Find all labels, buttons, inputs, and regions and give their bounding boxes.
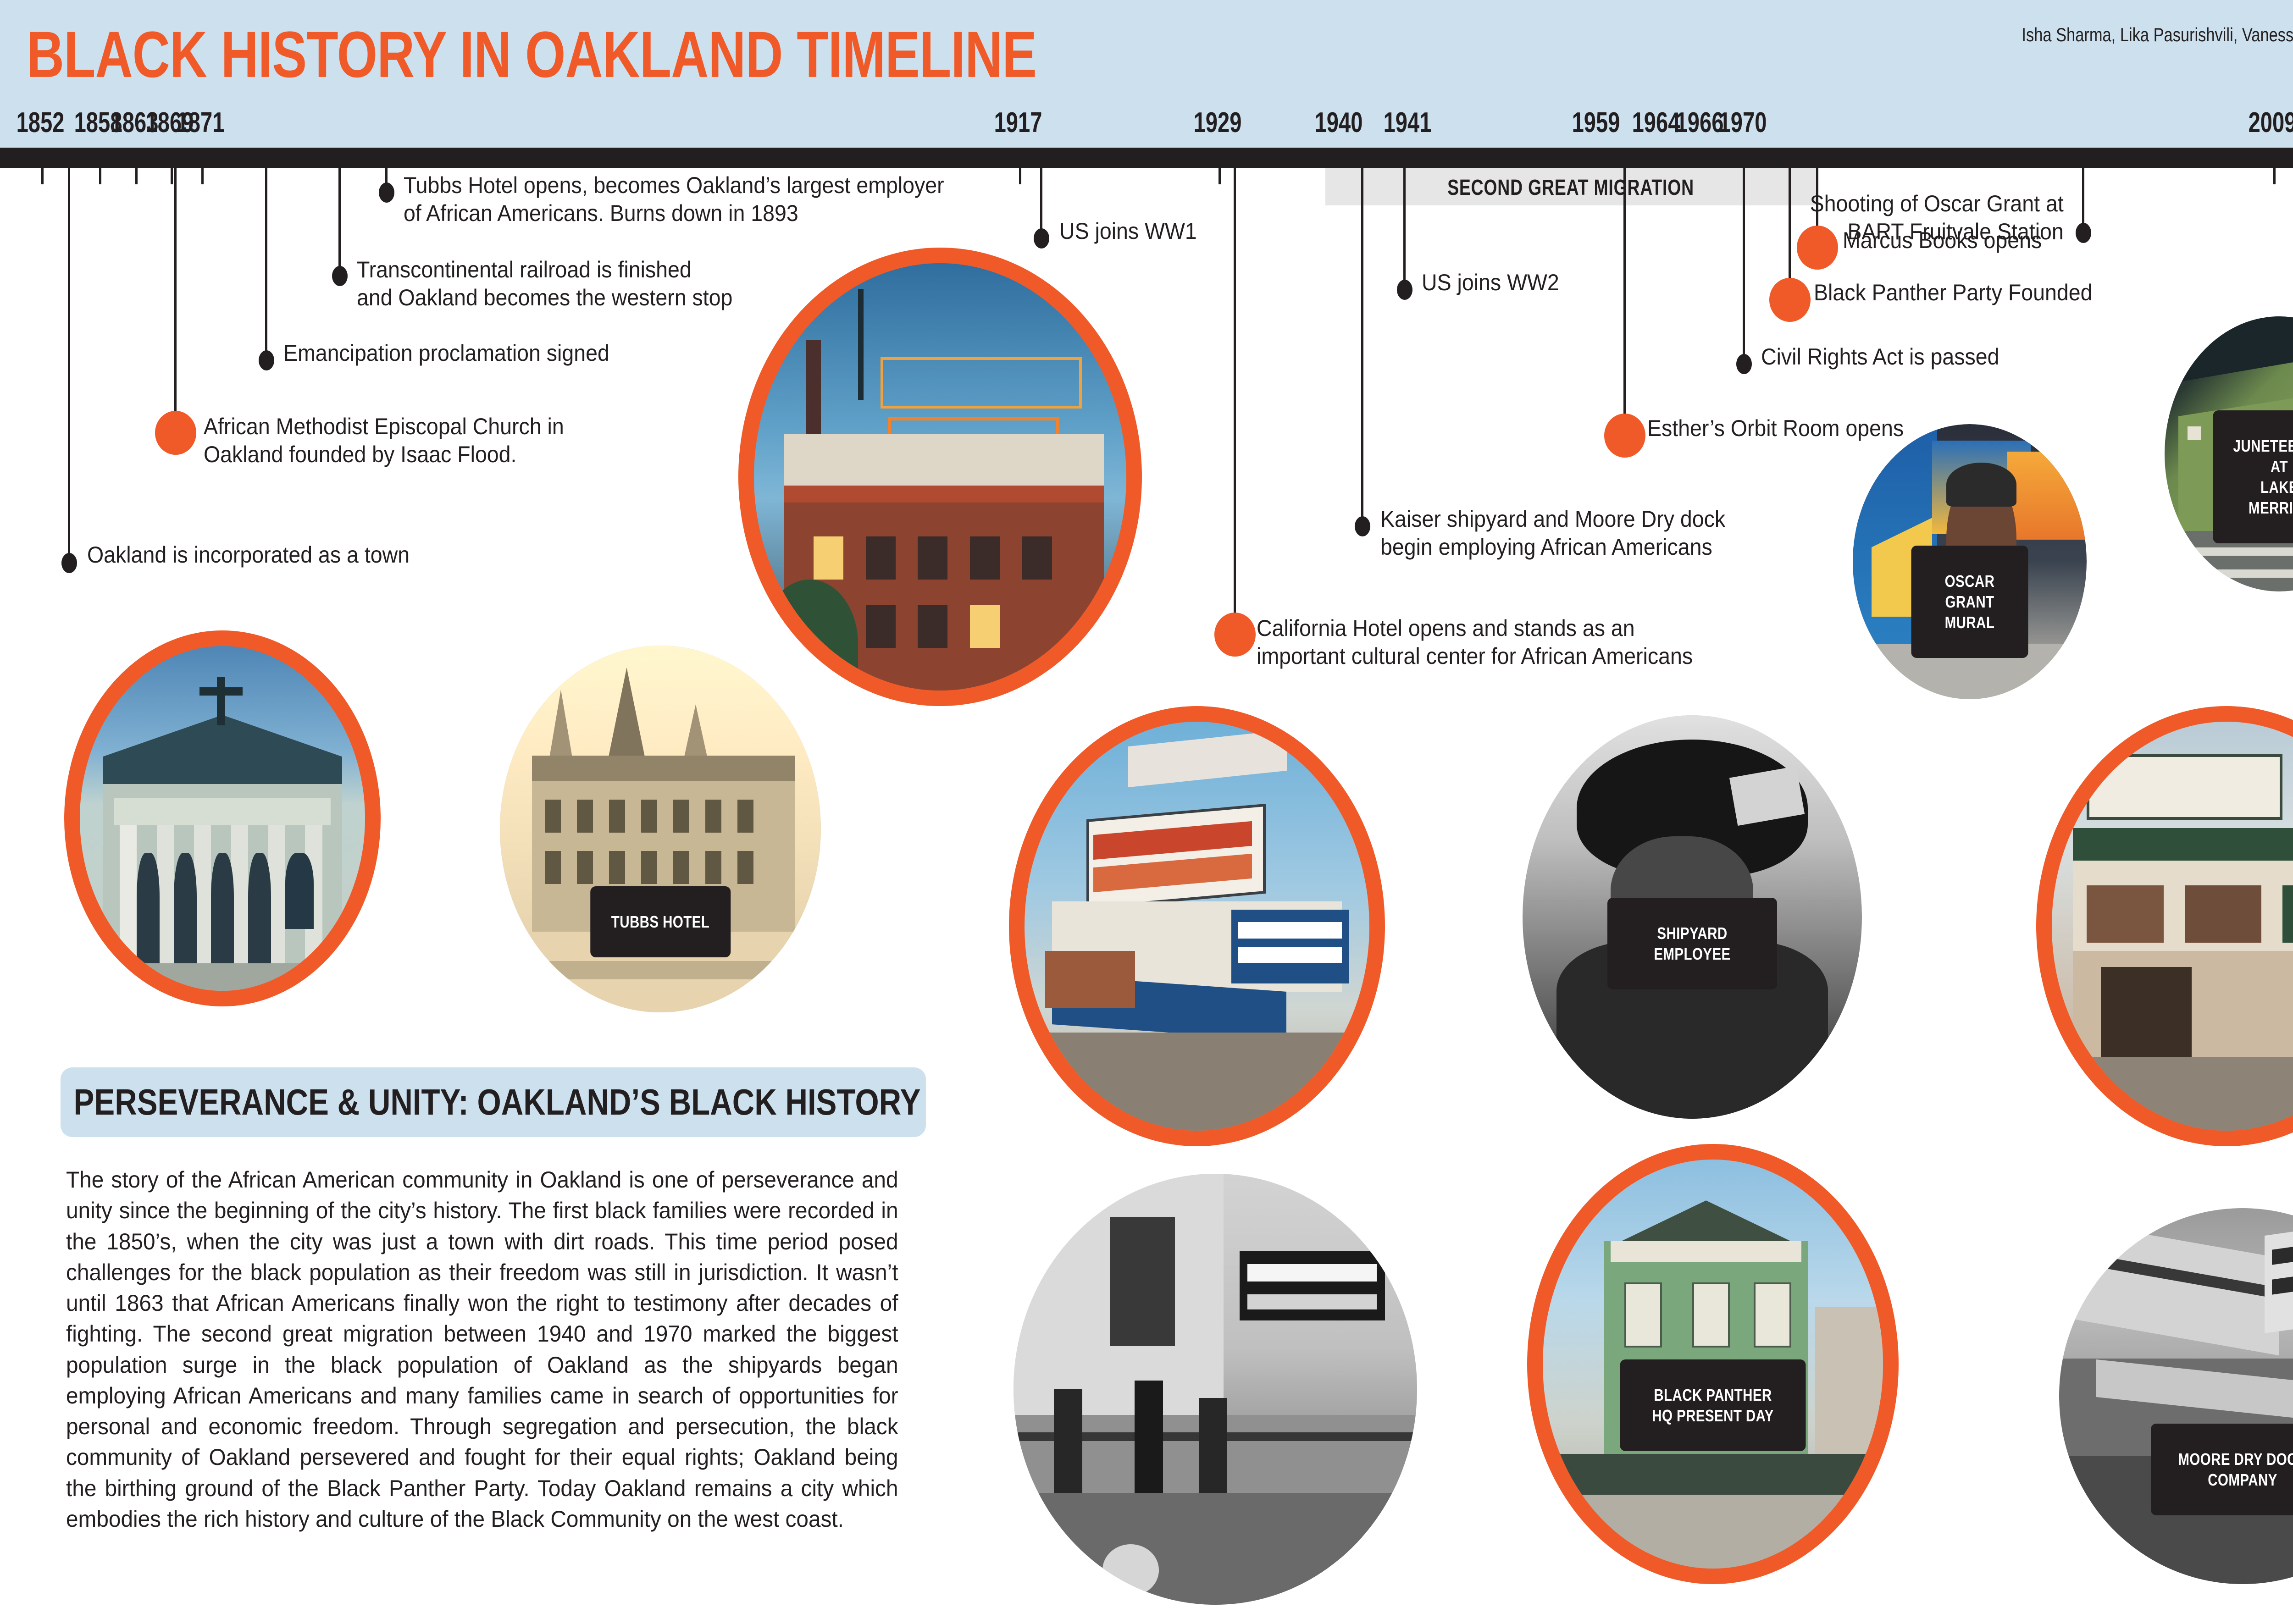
photo-black-panther-hq-historic[interactable] <box>1014 1174 1417 1605</box>
moore-dry-dock-image <box>2059 1208 2293 1584</box>
summary-title: PERSEVERANCE & UNITY: OAKLAND’S BLACK HI… <box>61 1081 920 1123</box>
timeline-year-1917: 1917 <box>987 106 1050 139</box>
event-label-us-joins-ww2: US joins WW2 <box>1422 269 1559 297</box>
event-label-us-joins-ww1: US joins WW1 <box>1059 217 1197 245</box>
timeline-year-1959: 1959 <box>1565 106 1628 139</box>
photo-marcus-books[interactable] <box>2036 706 2293 1146</box>
highlight-marker-dot-black-panther-party-founded[interactable] <box>1782 290 1798 310</box>
photo-oscar-grant-mural[interactable]: OSCAR GRANT MURAL <box>1853 424 2087 699</box>
summary-body: The story of the African American commun… <box>66 1165 898 1535</box>
event-label-ame-church-founded: African Methodist Episcopal Church in Oa… <box>204 413 564 469</box>
marker-dot-tubbs-hotel-opens[interactable] <box>379 182 394 203</box>
marker-dot-transcontinental-railroad[interactable] <box>332 266 348 286</box>
photo-california-hotel[interactable] <box>738 248 1142 706</box>
leader-line-us-joins-ww1 <box>1040 168 1042 238</box>
tubbs-hotel-image <box>500 646 821 1012</box>
marker-dot-us-joins-ww1[interactable] <box>1034 228 1049 249</box>
photo-caption-shipyard-employee: SHIPYARD EMPLOYEE <box>1607 898 1777 989</box>
timeline-year-1871: 1871 <box>169 106 232 139</box>
leader-line-ame-church-founded <box>174 168 177 433</box>
page-title: BLACK HISTORY IN OAKLAND TIMELINE <box>27 22 1036 88</box>
event-label-kaiser-shipyard-moore-dry-dock: Kaiser shipyard and Moore Dry dock begin… <box>1380 505 1725 561</box>
timeline-tick-1917 <box>1019 168 1021 184</box>
photo-caption-oscar-grant-mural: OSCAR GRANT MURAL <box>1911 546 2028 658</box>
photo-caption-juneteenth-lake-merritt: JUNETEENTH AT LAKE MERRITT <box>2213 410 2293 543</box>
timeline-year-1940: 1940 <box>1307 106 1370 139</box>
timeline-year-1929: 1929 <box>1186 106 1249 139</box>
leader-line-kaiser-shipyard-moore-dry-dock <box>1361 168 1363 526</box>
second-great-migration-label: SECOND GREAT MIGRATION <box>1379 175 1762 200</box>
event-label-black-panther-party-founded: Black Panther Party Founded <box>1814 279 2092 307</box>
marker-dot-civil-rights-act[interactable] <box>1736 354 1752 374</box>
photo-tubbs-hotel[interactable]: TUBBS HOTEL <box>500 646 821 1012</box>
event-label-oakland-incorporated: Oakland is incorporated as a town <box>87 541 410 569</box>
marker-dot-kaiser-shipyard-moore-dry-dock[interactable] <box>1355 516 1370 536</box>
photo-black-panther-hq-present[interactable]: BLACK PANTHER HQ PRESENT DAY <box>1527 1144 1899 1584</box>
california-hotel-image <box>754 263 1126 690</box>
marker-dot-oscar-grant-shooting[interactable] <box>2076 223 2091 243</box>
first-ame-church-image <box>80 646 365 991</box>
timeline-tick-2009 <box>2273 168 2276 184</box>
event-label-civil-rights-act: Civil Rights Act is passed <box>1761 343 1999 371</box>
event-label-oscar-grant-shooting: Shooting of Oscar Grant at BART Fruitval… <box>1810 190 2064 246</box>
black-panther-hq-historic-image <box>1014 1174 1417 1605</box>
event-label-transcontinental-railroad: Transcontinental railroad is finished an… <box>357 256 732 312</box>
photo-esthers-orbit-room[interactable] <box>1009 706 1385 1146</box>
leader-line-transcontinental-railroad <box>338 168 341 276</box>
leader-line-california-hotel-opens <box>1234 168 1236 635</box>
timeline-bar <box>0 148 2293 168</box>
highlight-marker-dot-esthers-orbit-room-opens[interactable] <box>1617 425 1633 446</box>
leader-line-oakland-incorporated <box>68 168 70 563</box>
marker-dot-oakland-incorporated[interactable] <box>61 553 77 573</box>
summary-title-box: PERSEVERANCE & UNITY: OAKLAND’S BLACK HI… <box>61 1067 926 1137</box>
photo-moore-dry-dock[interactable]: MOORE DRY DOCK COMPANY <box>2059 1208 2293 1584</box>
timeline-tick-1852 <box>41 168 44 184</box>
timeline-tick-1871 <box>201 168 204 184</box>
credits-line: Isha Sharma, Lika Pasurishvili, Vanessa … <box>2022 24 2293 46</box>
timeline-tick-1869 <box>171 168 173 184</box>
timeline-year-1941: 1941 <box>1376 106 1439 139</box>
highlight-marker-dot-marcus-books-opens[interactable] <box>1810 238 1825 258</box>
photo-caption-black-panther-hq-present: BLACK PANTHER HQ PRESENT DAY <box>1620 1359 1806 1451</box>
photo-first-ame-church[interactable] <box>64 630 381 1006</box>
timeline-year-1852: 1852 <box>9 106 72 139</box>
photo-caption-moore-dry-dock: MOORE DRY DOCK COMPANY <box>2151 1424 2293 1515</box>
marker-dot-us-joins-ww2[interactable] <box>1397 280 1412 300</box>
poster-canvas: BLACK HISTORY IN OAKLAND TIMELINE Isha S… <box>0 0 2293 1624</box>
event-label-tubbs-hotel-opens: Tubbs Hotel opens, becomes Oakland’s lar… <box>404 171 944 227</box>
photo-shipyard-employee[interactable]: SHIPYARD EMPLOYEE <box>1523 715 1862 1119</box>
timeline-tick-1858 <box>99 168 101 184</box>
highlight-marker-dot-california-hotel-opens[interactable] <box>1227 624 1243 645</box>
leader-line-civil-rights-act <box>1743 168 1745 364</box>
timeline-tick-1929 <box>1219 168 1221 184</box>
marker-dot-emancipation-proclamation[interactable] <box>259 350 274 370</box>
photo-caption-tubbs-hotel: TUBBS HOTEL <box>590 886 731 957</box>
timeline-year-2009: 2009 <box>2241 106 2293 139</box>
event-label-california-hotel-opens: California Hotel opens and stands as an … <box>1257 614 1693 670</box>
leader-line-esthers-orbit-room-opens <box>1623 168 1626 436</box>
highlight-marker-dot-ame-church-founded[interactable] <box>168 423 183 443</box>
event-label-emancipation-proclamation: Emancipation proclamation signed <box>283 339 609 367</box>
timeline-tick-1863 <box>135 168 138 184</box>
esthers-orbit-room-image <box>1025 722 1369 1131</box>
leader-line-us-joins-ww2 <box>1403 168 1406 290</box>
photo-juneteenth-lake-merritt[interactable]: JUNETEENTH AT LAKE MERRITT <box>2165 316 2293 591</box>
timeline-year-1970: 1970 <box>1711 106 1774 139</box>
leader-line-emancipation-proclamation <box>265 168 267 360</box>
marcus-books-image <box>2052 722 2293 1131</box>
